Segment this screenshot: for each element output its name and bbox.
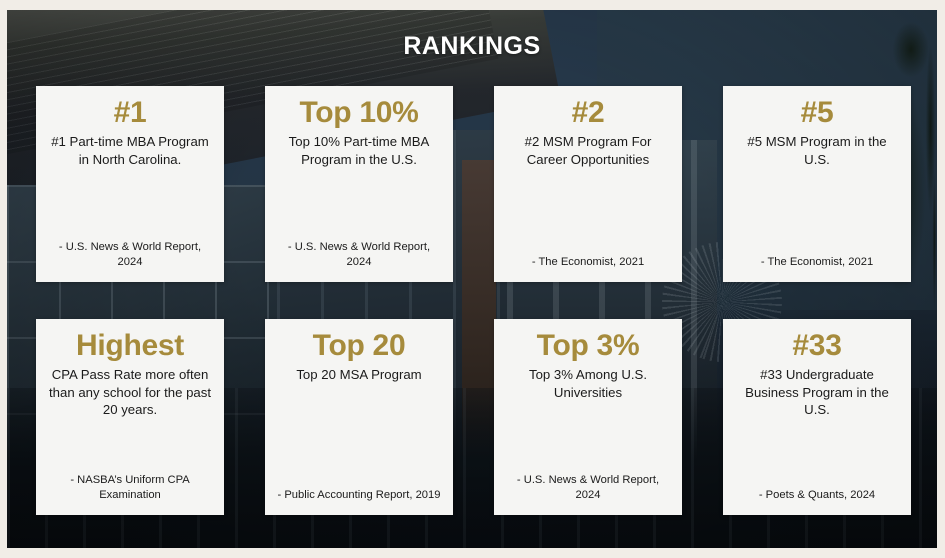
ranking-card: #2 #2 MSM Program For Career Opportuniti… xyxy=(494,86,682,282)
ranking-stat: #2 xyxy=(572,97,605,129)
ranking-stat: Highest xyxy=(76,330,184,362)
ranking-source: - Public Accounting Report, 2019 xyxy=(278,488,441,505)
ranking-source: - NASBA’s Uniform CPA Examination xyxy=(47,473,213,505)
ranking-stat: #33 xyxy=(792,330,841,362)
ranking-description: Top 20 MSA Program xyxy=(296,366,421,384)
ranking-stat: Top 20 xyxy=(313,330,406,362)
ranking-description: Top 3% Among U.S. Universities xyxy=(505,366,671,401)
ranking-source: - U.S. News & World Report, 2024 xyxy=(505,473,671,505)
ranking-stat: Top 10% xyxy=(299,97,418,129)
ranking-source: - Poets & Quants, 2024 xyxy=(759,488,875,505)
ranking-source: - U.S. News & World Report, 2024 xyxy=(47,240,213,272)
rankings-hero-section: RANKINGS #1 #1 Part-time MBA Program in … xyxy=(7,10,937,548)
ranking-source: - The Economist, 2021 xyxy=(761,255,873,272)
ranking-card: Top 10% Top 10% Part-time MBA Program in… xyxy=(265,86,453,282)
ranking-card: #33 #33 Undergraduate Business Program i… xyxy=(723,319,911,515)
ranking-card: #1 #1 Part-time MBA Program in North Car… xyxy=(36,86,224,282)
rankings-card-grid: #1 #1 Part-time MBA Program in North Car… xyxy=(36,86,912,515)
ranking-description: #5 MSM Program in the U.S. xyxy=(734,133,900,168)
ranking-card: Highest CPA Pass Rate more often than an… xyxy=(36,319,224,515)
ranking-source: - U.S. News & World Report, 2024 xyxy=(276,240,442,272)
ranking-stat: #5 xyxy=(801,97,834,129)
ranking-source: - The Economist, 2021 xyxy=(532,255,644,272)
ranking-description: #1 Part-time MBA Program in North Caroli… xyxy=(47,133,213,168)
page-title: RANKINGS xyxy=(7,32,937,61)
ranking-description: #33 Undergraduate Business Program in th… xyxy=(734,366,900,419)
page-root: RANKINGS #1 #1 Part-time MBA Program in … xyxy=(0,0,945,558)
ranking-card: Top 20 Top 20 MSA Program - Public Accou… xyxy=(265,319,453,515)
ranking-stat: #1 xyxy=(114,97,147,129)
ranking-stat: Top 3% xyxy=(537,330,640,362)
ranking-description: #2 MSM Program For Career Opportunities xyxy=(505,133,671,168)
ranking-description: CPA Pass Rate more often than any school… xyxy=(47,366,213,419)
ranking-description: Top 10% Part-time MBA Program in the U.S… xyxy=(276,133,442,168)
ranking-card: #5 #5 MSM Program in the U.S. - The Econ… xyxy=(723,86,911,282)
ranking-card: Top 3% Top 3% Among U.S. Universities - … xyxy=(494,319,682,515)
